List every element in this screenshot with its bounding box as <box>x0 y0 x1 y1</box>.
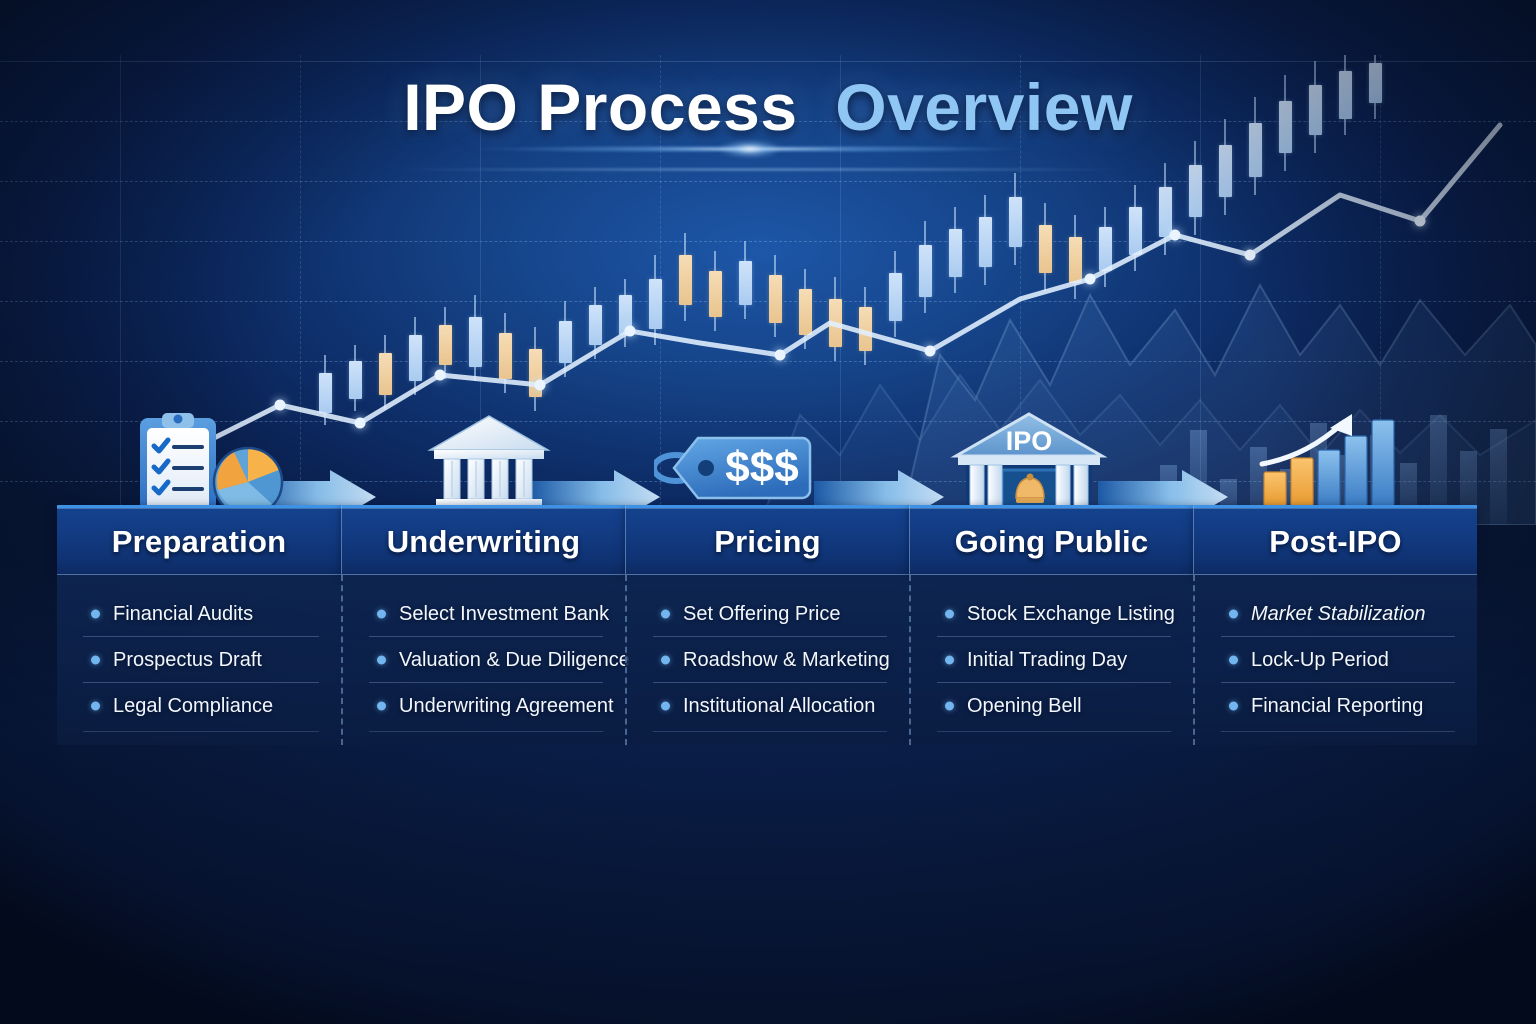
list-item[interactable]: Set Offering Price <box>645 591 887 637</box>
list-item[interactable]: Lock-Up Period <box>1213 637 1455 683</box>
bullet-dot-icon <box>377 610 386 619</box>
exchange-pediment-label: IPO <box>1006 426 1053 456</box>
list-item-label: Financial Audits <box>113 603 253 626</box>
bullet-dot-icon <box>661 702 670 711</box>
stage-title-pricing: Pricing <box>714 524 820 560</box>
stage-column-underwriting[interactable]: Underwriting Select Investment Bank Valu… <box>341 505 625 745</box>
stage-header-going-public[interactable]: Going Public <box>909 505 1193 575</box>
list-item[interactable]: Valuation & Due Diligence <box>361 637 603 683</box>
title-part-highlight: Overview <box>835 70 1133 144</box>
stock-exchange-building-bell-icon: IPO <box>944 408 1114 520</box>
stage-body-post-ipo: Market Stabilization Lock-Up Period Fina… <box>1193 575 1477 745</box>
price-tag-label: $$$ <box>725 443 798 492</box>
list-item[interactable]: Institutional Allocation <box>645 683 887 729</box>
bullet-dot-icon <box>945 702 954 711</box>
list-item[interactable]: Market Stabilization <box>1213 591 1455 637</box>
list-item-label: Underwriting Agreement <box>399 695 614 718</box>
list-item[interactable]: Select Investment Bank <box>361 591 603 637</box>
list-item[interactable]: Underwriting Agreement <box>361 683 603 729</box>
list-item-label: Initial Trading Day <box>967 649 1127 672</box>
stage-column-preparation[interactable]: Preparation Financial Audits Prospectus … <box>57 505 341 745</box>
stage-body-underwriting: Select Investment Bank Valuation & Due D… <box>341 575 625 745</box>
title-glow-line <box>380 168 1140 171</box>
stage-header-pricing[interactable]: Pricing <box>625 505 909 575</box>
page-title: IPO Process Overview <box>0 74 1536 140</box>
stage-title-post-ipo: Post-IPO <box>1269 524 1402 560</box>
list-item-label: Opening Bell <box>967 695 1082 718</box>
infographic-canvas: IPO Process Overview <box>0 0 1536 1024</box>
list-item-label: Legal Compliance <box>113 695 273 718</box>
stage-title-underwriting: Underwriting <box>387 524 581 560</box>
list-item[interactable]: Legal Compliance <box>75 683 319 729</box>
clipboard-checklist-pie-chart-icon <box>126 410 296 518</box>
bullet-dot-icon <box>661 610 670 619</box>
title-part-main: IPO Process <box>403 70 797 144</box>
stage-header-underwriting[interactable]: Underwriting <box>341 505 625 575</box>
bullet-dot-icon <box>661 656 670 665</box>
list-item-label: Institutional Allocation <box>683 695 875 718</box>
bullet-dot-icon <box>945 656 954 665</box>
list-item[interactable]: Prospectus Draft <box>75 637 319 683</box>
list-item-label: Financial Reporting <box>1251 695 1423 718</box>
stage-body-preparation: Financial Audits Prospectus Draft Legal … <box>57 575 341 745</box>
bullet-dot-icon <box>91 702 100 711</box>
bullet-dot-icon <box>377 702 386 711</box>
bullet-dot-icon <box>1229 610 1238 619</box>
stage-column-post-ipo[interactable]: Post-IPO Market Stabilization Lock-Up Pe… <box>1193 505 1477 745</box>
stage-body-going-public: Stock Exchange Listing Initial Trading D… <box>909 575 1193 745</box>
bullet-dot-icon <box>91 656 100 665</box>
bullet-dot-icon <box>377 656 386 665</box>
growth-bar-chart-arrow-icon <box>1248 406 1412 518</box>
list-item-label: Select Investment Bank <box>399 603 609 626</box>
list-item-label: Set Offering Price <box>683 603 840 626</box>
ipo-stage-panel: Preparation Financial Audits Prospectus … <box>57 505 1477 745</box>
list-item-label: Roadshow & Marketing <box>683 649 890 672</box>
stage-header-preparation[interactable]: Preparation <box>57 505 341 575</box>
stage-header-post-ipo[interactable]: Post-IPO <box>1193 505 1477 575</box>
price-tag-dollar-icon: $$$ <box>654 420 824 516</box>
list-item[interactable]: Financial Reporting <box>1213 683 1455 729</box>
stage-body-pricing: Set Offering Price Roadshow & Marketing … <box>625 575 909 745</box>
list-item[interactable]: Stock Exchange Listing <box>929 591 1171 637</box>
list-item[interactable]: Roadshow & Marketing <box>645 637 887 683</box>
list-item-label: Market Stabilization <box>1251 603 1426 626</box>
stage-title-preparation: Preparation <box>112 524 286 560</box>
stage-column-pricing[interactable]: Pricing Set Offering Price Roadshow & Ma… <box>625 505 909 745</box>
list-item-label: Stock Exchange Listing <box>967 603 1175 626</box>
list-item-label: Prospectus Draft <box>113 649 262 672</box>
bullet-dot-icon <box>1229 702 1238 711</box>
bank-building-icon <box>424 410 554 518</box>
stage-title-going-public: Going Public <box>955 524 1149 560</box>
bullet-dot-icon <box>91 610 100 619</box>
list-item-label: Valuation & Due Diligence <box>399 649 630 672</box>
list-item[interactable]: Opening Bell <box>929 683 1171 729</box>
list-item[interactable]: Financial Audits <box>75 591 319 637</box>
list-item-label: Lock-Up Period <box>1251 649 1389 672</box>
list-item[interactable]: Initial Trading Day <box>929 637 1171 683</box>
bullet-dot-icon <box>945 610 954 619</box>
bullet-dot-icon <box>1229 656 1238 665</box>
stage-column-going-public[interactable]: Going Public Stock Exchange Listing Init… <box>909 505 1193 745</box>
stage-columns: Preparation Financial Audits Prospectus … <box>57 505 1477 745</box>
